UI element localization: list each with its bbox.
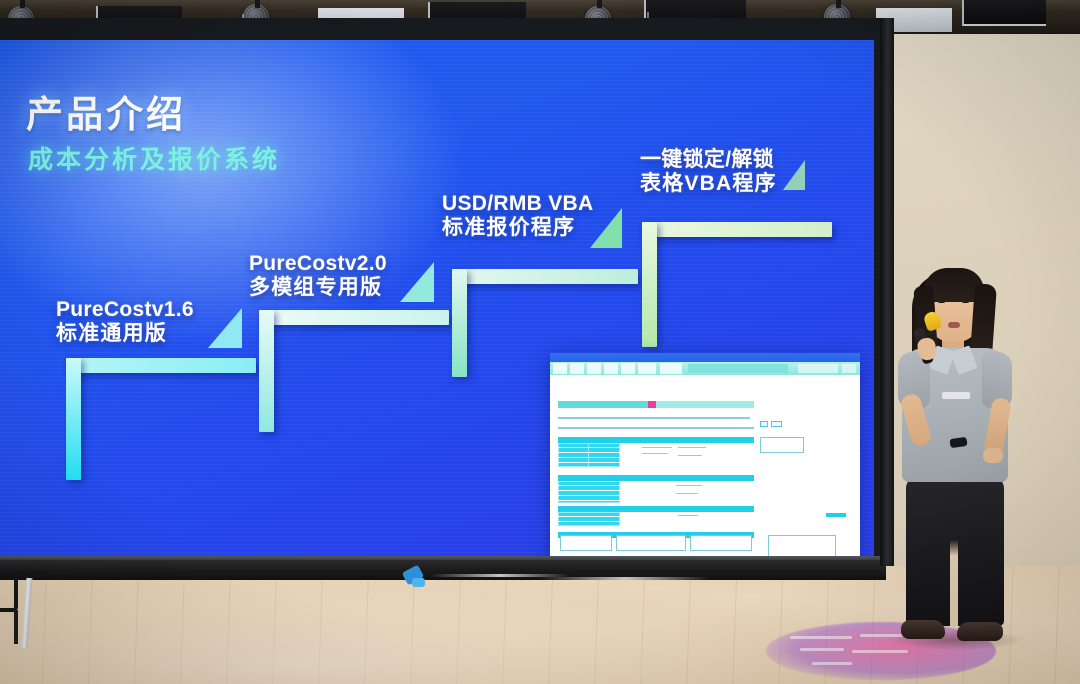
step-3-vertical-bar [452, 269, 467, 377]
cable-connector [412, 578, 425, 587]
chair-backrest [0, 572, 18, 612]
presenter-shirt-logo [942, 392, 970, 399]
spreadsheet-table-block [588, 443, 620, 467]
projection-text-line [800, 648, 844, 651]
spreadsheet-side-panel [760, 437, 804, 453]
step-3-line2: 标准报价程序 [442, 216, 593, 240]
step-3-arrow-icon [590, 208, 622, 248]
spotlight-arm [597, 0, 602, 8]
ceiling-panel [962, 0, 1046, 26]
spreadsheet-cell-text [678, 447, 706, 448]
ribbon-tab [621, 363, 635, 374]
floor-cable [540, 577, 710, 580]
led-wall-frame: 产品介绍 成本分析及报价系统 PureCostv1.6 标准通用版 PureCo… [0, 18, 886, 566]
spreadsheet-table-block [558, 512, 620, 526]
spreadsheet-cell-text [676, 485, 702, 486]
presenter-mouth [948, 322, 960, 328]
spreadsheet-side-header [826, 513, 846, 517]
ribbon-title-area [688, 364, 788, 373]
chair-leg [14, 610, 18, 644]
spreadsheet-cell-text [642, 453, 668, 454]
step-4-line1: 一键锁定/解锁 [640, 148, 777, 172]
step-4-label: 一键锁定/解锁 表格VBA程序 [640, 148, 777, 197]
spotlight-arm [836, 0, 841, 8]
presenter-leg-gap [950, 540, 958, 626]
ribbon-tab [553, 363, 567, 374]
spreadsheet-toolbar-button [771, 421, 782, 427]
step-2-vertical-bar [259, 310, 274, 432]
slide-subtitle: 成本分析及报价系统 [28, 140, 280, 176]
step-2-horizontal-bar [259, 310, 449, 325]
step-1-vertical-bar [66, 358, 81, 480]
ribbon-tab [660, 363, 682, 374]
step-1-horizontal-bar [66, 358, 256, 373]
step-2-arrow-icon [400, 262, 434, 302]
step-4-line2: 表格VBA程序 [640, 172, 777, 196]
spreadsheet-cell-text [642, 447, 672, 448]
step-1-line1: PureCostv1.6 [56, 298, 194, 322]
spotlight-arm [255, 0, 260, 8]
step-4-arrow-icon [783, 160, 805, 190]
spreadsheet-cell-text [678, 515, 698, 516]
spreadsheet-text-row [558, 417, 750, 419]
projection-text-line [812, 662, 852, 665]
presentation-photo-scene: 产品介绍 成本分析及报价系统 PureCostv1.6 标准通用版 PureCo… [0, 0, 1080, 684]
spreadsheet-ribbon [550, 362, 860, 375]
led-wall-base [0, 560, 886, 580]
projection-text-line [790, 636, 852, 639]
ribbon-tab [638, 363, 656, 374]
step-2-label: PureCostv2.0 多模组专用版 [249, 252, 387, 301]
presenter-shoe-left [901, 620, 945, 639]
ribbon-right-controls [842, 364, 856, 373]
spreadsheet-titlebar [550, 353, 860, 362]
spreadsheet-subtable [616, 535, 686, 551]
spreadsheet-text-row [558, 427, 754, 429]
step-3-line1: USD/RMB VBA [442, 192, 593, 216]
step-1-line2: 标准通用版 [56, 322, 194, 346]
spreadsheet-table-block [558, 481, 620, 503]
step-4-vertical-bar [642, 222, 657, 347]
projection-text-line [852, 650, 908, 653]
spreadsheet-cell-text [678, 455, 702, 456]
led-wall-display: 产品介绍 成本分析及报价系统 PureCostv1.6 标准通用版 PureCo… [0, 40, 874, 578]
spotlight-arm [20, 0, 25, 8]
step-3-horizontal-bar [452, 269, 638, 284]
ribbon-right-controls [798, 364, 838, 373]
step-1-label: PureCostv1.6 标准通用版 [56, 298, 194, 347]
step-2-line2: 多模组专用版 [249, 276, 387, 300]
spreadsheet-body [550, 375, 860, 578]
step-3-label: USD/RMB VBA 标准报价程序 [442, 192, 593, 241]
spreadsheet-progress-bar [558, 401, 754, 408]
slide-title: 产品介绍 [26, 84, 186, 138]
presenter-shoe-right [957, 622, 1003, 641]
spreadsheet-subtable [560, 535, 612, 551]
step-4-horizontal-bar [642, 222, 832, 237]
ribbon-tab [587, 363, 601, 374]
spreadsheet-subtable [690, 535, 752, 551]
step-2-line1: PureCostv2.0 [249, 252, 387, 276]
led-wall-right-edge [880, 18, 894, 566]
ribbon-tab [570, 363, 584, 374]
spreadsheet-cell-text [676, 493, 698, 494]
step-1-arrow-icon [208, 308, 242, 348]
spreadsheet-screenshot [550, 353, 860, 578]
ribbon-tab [604, 363, 618, 374]
presenter-hand-right [983, 448, 1003, 463]
spreadsheet-toolbar-button [760, 421, 768, 427]
